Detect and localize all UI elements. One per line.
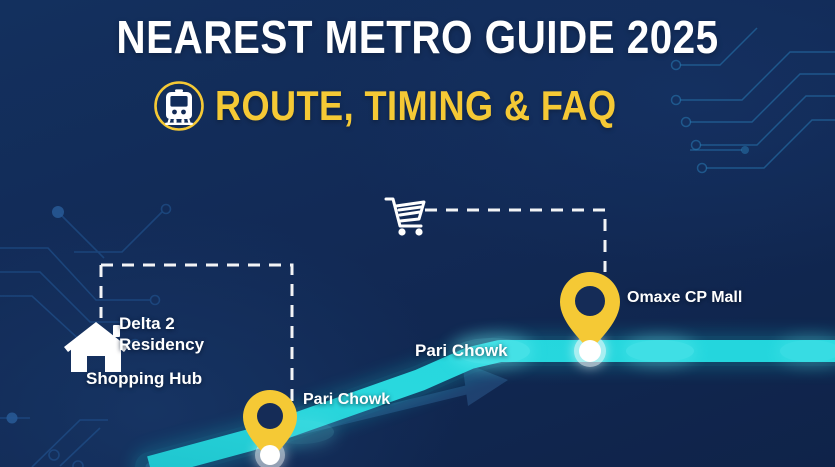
metro-guide-banner: NEAREST METRO GUIDE 2025 ROUTE, TIMING &… — [0, 0, 835, 467]
shopping-cart-icon — [386, 199, 424, 226]
dashed-route-omaxe — [425, 210, 605, 272]
metro-route-map — [0, 0, 835, 467]
page-subtitle: ROUTE, TIMING & FAQ — [215, 83, 616, 129]
house-icon — [64, 322, 128, 372]
shopping-cart-wheels — [398, 228, 422, 235]
map-pin-pari-chowk-lower — [243, 390, 297, 467]
subtitle-row: ROUTE, TIMING & FAQ — [0, 80, 835, 132]
page-title: NEAREST METRO GUIDE 2025 — [50, 12, 785, 62]
metro-train-icon — [153, 80, 205, 132]
dashed-route-delta2 — [101, 265, 292, 402]
